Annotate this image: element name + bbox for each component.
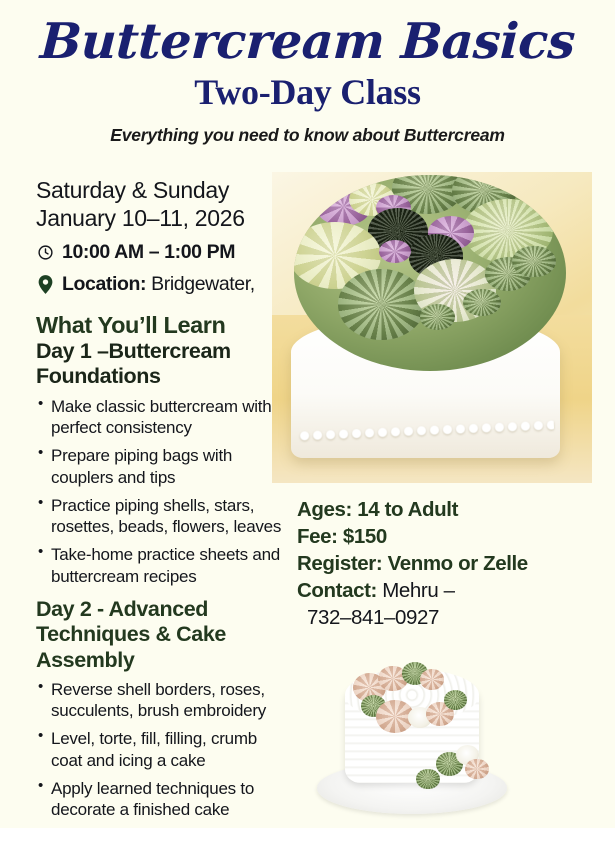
page-title: Buttercream Basics <box>0 16 615 67</box>
list-item: Prepare piping bags with couplers and ti… <box>36 445 284 488</box>
bottom-margin <box>0 828 615 868</box>
ages-line: Ages: 14 to Adult <box>297 496 597 523</box>
flyer-header: Buttercream Basics Two-Day Class Everyth… <box>0 0 615 146</box>
register-label: Register: <box>297 552 382 575</box>
list-item: Level, torte, fill, filling, crumb coat … <box>36 728 284 771</box>
day2-title: Day 2 - Advanced Techniques & Cake Assem… <box>36 597 284 673</box>
location-label: Location: <box>62 273 146 295</box>
list-item: Make classic buttercream with perfect co… <box>36 396 284 439</box>
succulent-cake-photo <box>272 172 592 483</box>
day1-title: Day 1 –Buttercream Foundations <box>36 339 284 390</box>
location-value: Bridgewater, <box>151 273 255 295</box>
location-row: Location: Bridgewater, <box>36 273 284 296</box>
list-item: Reverse shell borders, roses, succulents… <box>36 679 284 722</box>
day1-bullet-list: Make classic buttercream with perfect co… <box>36 396 284 587</box>
register-line: Register: Venmo or Zelle <box>297 550 597 577</box>
list-item: Take-home practice sheets and buttercrea… <box>36 544 284 587</box>
tagline: Everything you need to know about Butter… <box>0 125 615 146</box>
day2-bullet-list: Reverse shell borders, roses, succulents… <box>36 679 284 821</box>
photo-succulent-arrangement <box>294 175 566 371</box>
list-item: Apply learned techniques to decorate a f… <box>36 778 284 821</box>
contact-value: Mehru – <box>382 579 454 602</box>
date-line-2: January 10–11, 2026 <box>36 204 284 232</box>
class-details-column: Saturday & Sunday January 10–11, 2026 10… <box>36 176 284 827</box>
contact-phone: 732–841–0927 <box>297 604 597 631</box>
ages-value: 14 to Adult <box>357 498 458 521</box>
fee-line: Fee: $150 <box>297 523 597 550</box>
page-subtitle: Two-Day Class <box>0 73 615 113</box>
contact-line: Contact: Mehru – <box>297 577 597 604</box>
list-item: Practice piping shells, stars, rosettes,… <box>36 495 284 538</box>
map-pin-icon <box>36 276 54 294</box>
time-row: 10:00 AM – 1:00 PM <box>36 241 284 264</box>
time-text: 10:00 AM – 1:00 PM <box>62 241 235 264</box>
fee-value: $150 <box>343 525 387 548</box>
clock-icon <box>36 244 54 262</box>
ages-label: Ages: <box>297 498 352 521</box>
flyer-page: Buttercream Basics Two-Day Class Everyth… <box>0 0 615 868</box>
learn-section-title: What You’ll Learn <box>36 312 284 339</box>
register-value: Venmo or Zelle <box>388 552 528 575</box>
registration-info: Ages: 14 to Adult Fee: $150 Register: Ve… <box>297 496 597 631</box>
date-line-1: Saturday & Sunday <box>36 176 284 204</box>
fee-label: Fee: <box>297 525 338 548</box>
location-text: Location: Bridgewater, <box>62 273 255 296</box>
contact-label: Contact: <box>297 579 377 602</box>
rose-cake-photo <box>313 645 511 817</box>
